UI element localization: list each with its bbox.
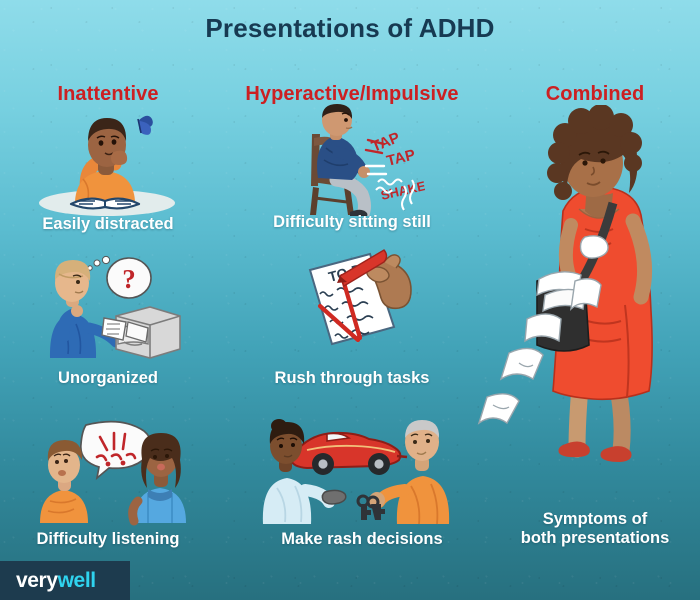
- caption-combined-line2: both presentations: [490, 529, 700, 548]
- illustration-rush-through-tasks: TO-DO: [280, 240, 430, 365]
- illustration-difficulty-sitting-still: TAP TAP SHAKE: [290, 104, 425, 216]
- hand: [111, 151, 127, 165]
- caption-rush-through-tasks: Rush through tasks: [262, 369, 442, 388]
- illustration-combined-symptoms: [475, 105, 700, 505]
- caption-make-rash-decisions: Make rash decisions: [262, 530, 462, 549]
- illustration-unorganized: ?: [32, 250, 187, 365]
- shoe-front: [559, 441, 590, 457]
- wallet: [322, 490, 345, 504]
- logo-text-well: well: [58, 569, 96, 593]
- open-book: [71, 199, 139, 209]
- caption-difficulty-listening: Difficulty listening: [8, 530, 208, 549]
- illustration-difficulty-listening: [28, 415, 193, 527]
- figure-not-listening: [40, 440, 88, 523]
- caption-difficulty-sitting-still: Difficulty sitting still: [262, 213, 442, 232]
- caption-unorganized: Unorganized: [18, 369, 198, 388]
- caption-easily-distracted: Easily distracted: [18, 215, 198, 234]
- infographic-root: Presentations of ADHD Inattentive Hypera…: [0, 0, 700, 600]
- motion-annotations: TAP TAP SHAKE: [366, 129, 425, 210]
- column-heading-hyperactive: Hyperactive/Impulsive: [237, 83, 467, 106]
- speech-bubble: [81, 422, 152, 478]
- question-mark-glyph: ?: [122, 264, 136, 294]
- shoe-back: [601, 446, 632, 462]
- butterfly-icon: [138, 116, 153, 135]
- illustration-make-rash-decisions: [255, 412, 455, 527]
- column-heading-combined: Combined: [500, 83, 690, 106]
- verywell-logo: verywell: [0, 561, 130, 600]
- logo-text-very: very: [16, 569, 58, 593]
- page-title: Presentations of ADHD: [0, 13, 700, 44]
- illustration-easily-distracted: [35, 105, 185, 220]
- column-heading-inattentive: Inattentive: [8, 83, 208, 106]
- caption-combined-line1: Symptoms of: [490, 510, 700, 529]
- caption-combined-symptoms: Symptoms of both presentations: [490, 510, 700, 548]
